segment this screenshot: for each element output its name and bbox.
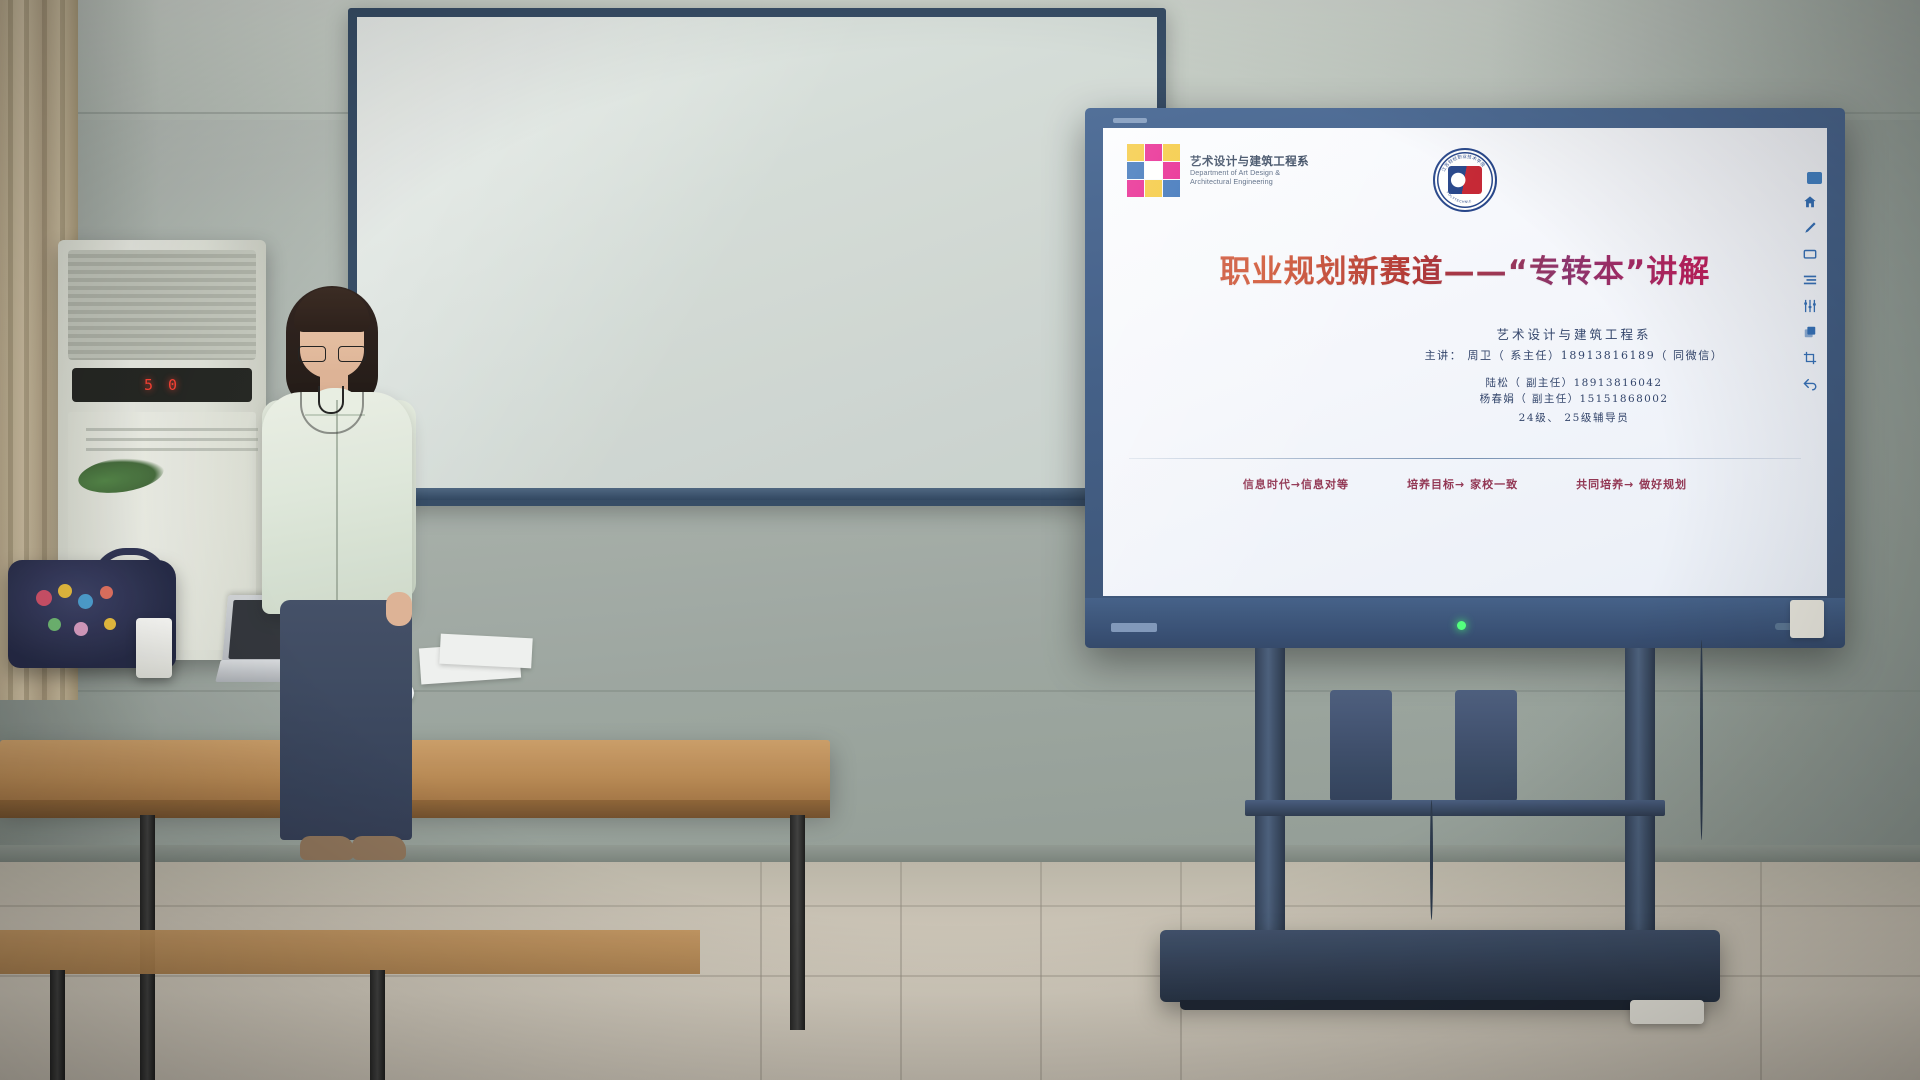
whiteboard-tray xyxy=(348,488,1148,500)
undo-arrow-icon[interactable] xyxy=(1803,376,1818,391)
table-edge xyxy=(0,800,830,818)
subtitle-counselors: 24级、 25级辅导员 xyxy=(1359,410,1789,425)
stand-base xyxy=(1160,930,1720,1002)
display-cable xyxy=(1700,640,1703,840)
panel-logo xyxy=(1111,623,1157,632)
department-name-en-2: Architectural Engineering xyxy=(1190,178,1309,187)
subtitle-department: 艺术设计与建筑工程系 xyxy=(1359,324,1789,343)
stand-shelf xyxy=(1245,800,1665,816)
svg-text:江苏财经职业技术学院: 江苏财经职业技术学院 xyxy=(1440,153,1487,173)
home-icon[interactable] xyxy=(1803,194,1818,209)
white-device xyxy=(136,618,172,678)
crop-icon[interactable] xyxy=(1803,350,1818,365)
presenter-hand xyxy=(386,592,412,626)
presentation-slide: 艺术设计与建筑工程系 Department of Art Design & Ar… xyxy=(1103,128,1827,596)
banner-item-1: 信息时代→信息对等 xyxy=(1243,476,1349,492)
presenter-trousers xyxy=(280,600,412,840)
slide-banner: 信息时代→信息对等 培养目标→ 家校一致 共同培养→ 做好规划 xyxy=(1103,476,1827,492)
wooden-presenter-table xyxy=(0,740,830,808)
pen-icon[interactable] xyxy=(1803,220,1818,235)
projection-whiteboard xyxy=(348,8,1166,506)
classroom-scene: 5 0 xyxy=(0,0,1920,1080)
stand-cable xyxy=(1430,800,1433,920)
subtitle-deputy-2: 杨春娟（ 副主任）15151868002 xyxy=(1359,392,1789,408)
table-leg xyxy=(50,970,65,1080)
panel-brand-badge xyxy=(1113,118,1147,123)
interactive-flat-panel[interactable]: 艺术设计与建筑工程系 Department of Art Design & Ar… xyxy=(1085,108,1845,648)
slide-divider xyxy=(1129,458,1801,459)
list-icon[interactable] xyxy=(1803,272,1818,287)
ac-display-panel: 5 0 xyxy=(72,368,252,402)
papers xyxy=(439,634,532,669)
slide-title: 职业规划新赛道——“专转本”讲解 xyxy=(1103,246,1827,291)
power-strip xyxy=(1630,1000,1704,1024)
whiteboard-glare xyxy=(357,17,1157,497)
panel-bottom-bezel xyxy=(1085,598,1845,648)
floor-tile-line xyxy=(760,862,762,1080)
sliders-icon[interactable] xyxy=(1803,298,1818,313)
ac-temperature-readout: 5 0 xyxy=(144,376,180,394)
subtitle-speaker: 主讲： 周卫（ 系主任）18913816189（ 同微信） xyxy=(1359,347,1789,363)
school-seal-icon: 江苏财经职业技术学院 POLYTECHNIC xyxy=(1433,148,1497,212)
wall-socket xyxy=(1790,600,1824,638)
subtitle-deputy-1: 陆松（ 副主任）18913816042 xyxy=(1359,376,1789,392)
presenter-shoe xyxy=(352,836,406,860)
seal-arc-text: 江苏财经职业技术学院 POLYTECHNIC xyxy=(1435,150,1495,210)
department-name-cn: 艺术设计与建筑工程系 xyxy=(1190,155,1309,169)
whiteboard-icon[interactable] xyxy=(1803,246,1818,261)
panel-power-led xyxy=(1457,621,1466,630)
speaker-left xyxy=(1330,690,1392,802)
stand-column-left xyxy=(1255,648,1285,930)
second-table xyxy=(0,930,700,974)
panel-screen[interactable]: 艺术设计与建筑工程系 Department of Art Design & Ar… xyxy=(1103,128,1827,596)
layers-icon[interactable] xyxy=(1803,324,1818,339)
svg-text:POLYTECHNIC: POLYTECHNIC xyxy=(1446,190,1473,204)
banner-item-2: 培养目标→ 家校一致 xyxy=(1407,476,1518,492)
ac-grille xyxy=(68,250,256,360)
floor-tile-line xyxy=(1760,862,1762,1080)
cube-logo-icon xyxy=(1127,144,1181,198)
presenter-shoe xyxy=(300,836,354,860)
table-leg xyxy=(790,815,805,1030)
stand-foot xyxy=(1180,1000,1700,1010)
banner-item-3: 共同培养→ 做好规划 xyxy=(1576,476,1687,492)
panel-toolbar[interactable] xyxy=(1797,194,1823,391)
glasses-icon xyxy=(298,346,366,360)
speaker-right xyxy=(1455,690,1517,802)
table-leg xyxy=(370,970,385,1080)
floor-tile-line xyxy=(1040,862,1042,1080)
floor-tile-line xyxy=(900,862,902,1080)
slide-subtitle-block: 艺术设计与建筑工程系 主讲： 周卫（ 系主任）18913816189（ 同微信）… xyxy=(1359,324,1789,425)
department-logo-block: 艺术设计与建筑工程系 Department of Art Design & Ar… xyxy=(1127,144,1309,198)
toolbar-tag-icon[interactable] xyxy=(1807,172,1822,184)
stand-column-right xyxy=(1625,648,1655,930)
headset-microphone xyxy=(318,386,344,414)
